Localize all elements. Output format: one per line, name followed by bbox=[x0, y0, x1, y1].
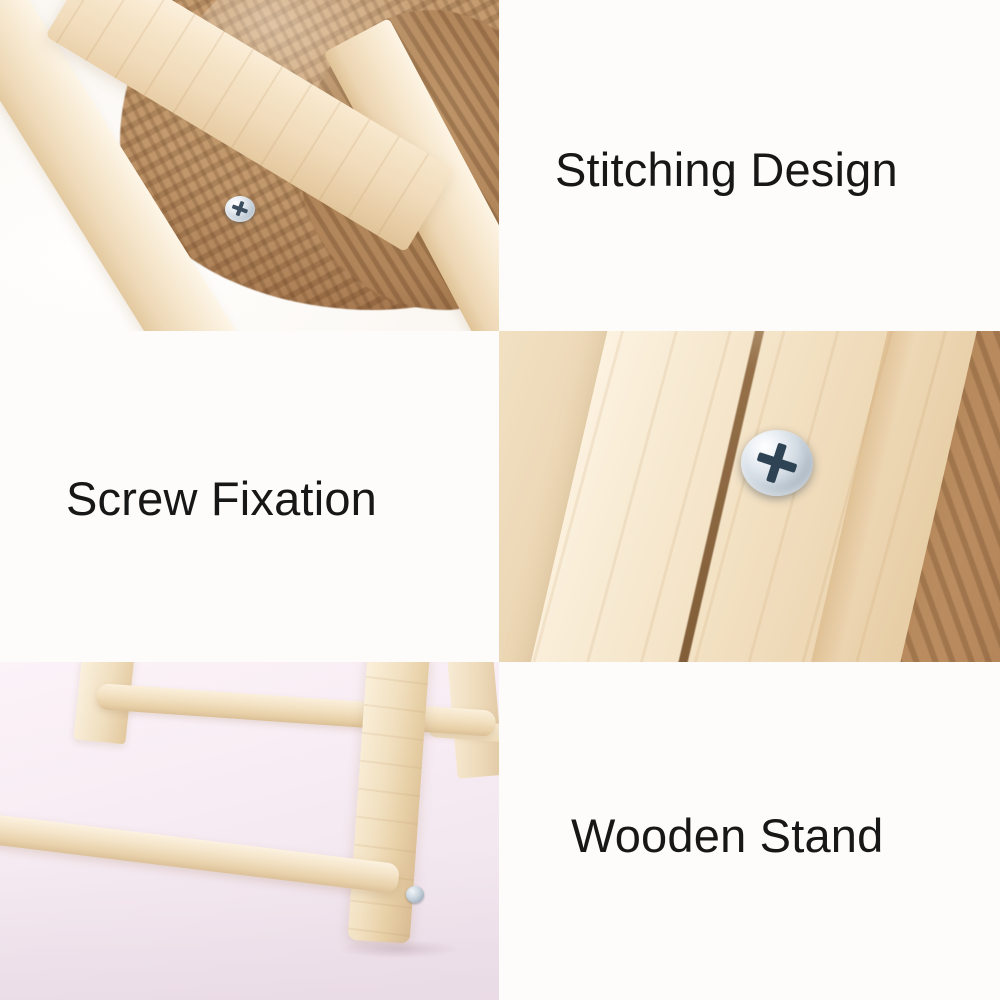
stitching-design-photo bbox=[0, 0, 499, 331]
floor-shadow bbox=[340, 940, 460, 958]
screw-fixation-caption: Screw Fixation bbox=[0, 331, 499, 662]
screw-fixation-photo bbox=[499, 331, 1000, 662]
caption-label-stitching-design: Stitching Design bbox=[555, 144, 898, 196]
caption-label-screw-fixation: Screw Fixation bbox=[66, 473, 377, 525]
screw-macro-icon bbox=[741, 430, 813, 496]
wooden-stand-caption: Wooden Stand bbox=[499, 662, 1000, 1000]
caption-label-wooden-stand: Wooden Stand bbox=[571, 810, 884, 862]
wooden-stand-photo bbox=[0, 662, 499, 1000]
feature-collage: Stitching Design Screw Fixation Wooden S… bbox=[0, 0, 1000, 1000]
screw-small-icon bbox=[406, 886, 424, 903]
stitching-design-caption: Stitching Design bbox=[499, 0, 1000, 331]
screw-icon bbox=[225, 196, 255, 222]
